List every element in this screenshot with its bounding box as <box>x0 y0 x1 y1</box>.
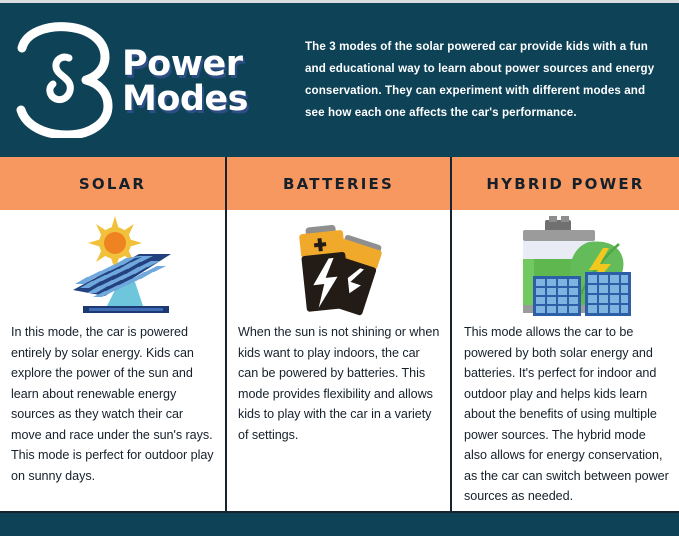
battery-terminal-nub <box>561 216 569 222</box>
header-title: Power Modes <box>122 43 287 117</box>
column-heading-band: SOLAR BATTERIES HYBRID POWER <box>0 157 679 210</box>
icon-area-hybrid <box>452 210 679 322</box>
column-batteries: When the sun is not shining or when kids… <box>225 210 450 511</box>
header-intro-text: The 3 modes of the solar powered car pro… <box>287 36 679 124</box>
band-cell-solar: SOLAR <box>0 157 225 210</box>
battery-terminal-nub <box>549 216 557 222</box>
title-line-1: Power <box>122 47 287 82</box>
solar-panel-right-icon <box>585 272 631 316</box>
header-banner: Power Modes The 3 modes of the solar pow… <box>0 0 679 157</box>
title-line-2: Modes <box>122 82 287 117</box>
footer-strip <box>0 511 679 536</box>
content-columns: In this mode, the car is powered entirel… <box>0 210 679 511</box>
battery-body-highlight <box>523 259 534 311</box>
column-heading-solar: SOLAR <box>79 175 146 193</box>
solar-panel-left-icon <box>533 276 581 316</box>
column-heading-batteries: BATTERIES <box>283 175 394 193</box>
band-cell-batteries: BATTERIES <box>225 157 450 210</box>
band-cell-hybrid: HYBRID POWER <box>450 157 679 210</box>
column-solar: In this mode, the car is powered entirel… <box>0 210 225 511</box>
solar-panel-sun-icon <box>43 214 183 318</box>
infographic-page: Power Modes The 3 modes of the solar pow… <box>0 0 679 536</box>
icon-area-batteries <box>227 210 450 322</box>
icon-area-solar <box>0 210 225 322</box>
column-hybrid-power: This mode allows the car to be powered b… <box>450 210 679 511</box>
three-outline-icon <box>12 22 116 138</box>
column-heading-hybrid-power: HYBRID POWER <box>486 175 644 193</box>
column-body-hybrid-power: This mode allows the car to be powered b… <box>452 322 679 507</box>
panel-base-highlight <box>89 308 163 311</box>
column-body-batteries: When the sun is not shining or when kids… <box>227 322 450 445</box>
battery-upright-icon <box>298 224 351 312</box>
sun-core-icon <box>104 232 126 254</box>
number-three-logo <box>0 22 122 138</box>
two-batteries-icon <box>280 216 398 316</box>
column-body-solar: In this mode, the car is powered entirel… <box>0 322 225 486</box>
green-battery-leaf-solar-icon <box>493 214 639 318</box>
battery-collar-icon <box>523 230 595 241</box>
